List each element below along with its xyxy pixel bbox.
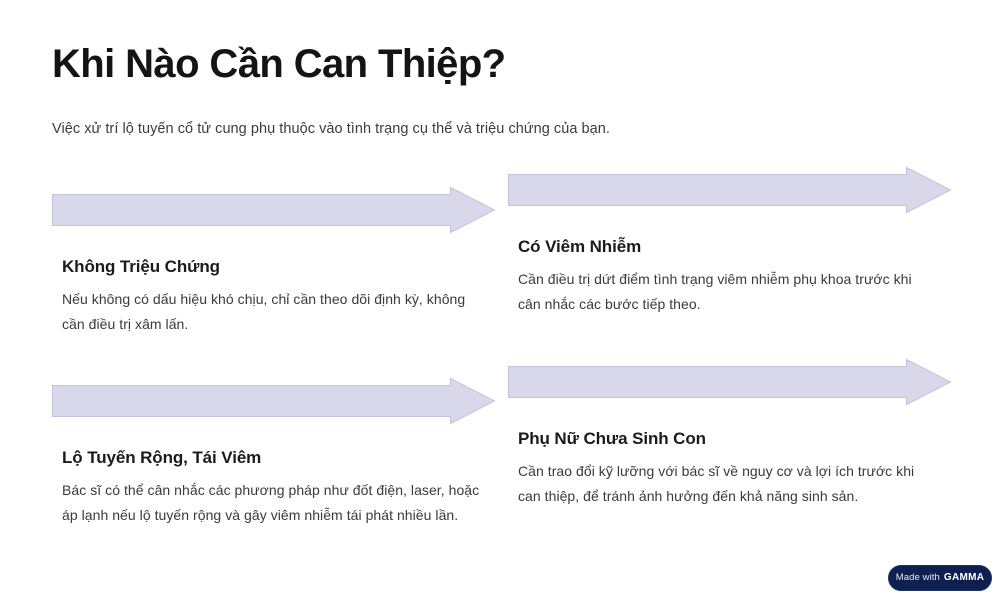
card-grid: Không Triệu Chứng Nếu không có dấu hiệu … bbox=[0, 0, 1000, 595]
card-lo-tuyen-rong-tai-viem: Lộ Tuyến Rộng, Tái Viêm Bác sĩ có thể câ… bbox=[52, 378, 497, 528]
card-body: Không Triệu Chứng Nếu không có dấu hiệu … bbox=[52, 255, 497, 337]
slide: Khi Nào Cần Can Thiệp? Việc xử trí lộ tu… bbox=[0, 0, 1000, 595]
badge-made-with-label: Made with bbox=[896, 573, 940, 583]
badge-brand-label: GAMMA bbox=[944, 573, 984, 583]
card-heading: Có Viêm Nhiễm bbox=[518, 235, 953, 259]
made-with-gamma-badge[interactable]: Made with GAMMA bbox=[888, 565, 992, 591]
right-arrow-icon bbox=[52, 378, 495, 424]
card-body: Có Viêm Nhiễm Cần điều trị dứt điểm tình… bbox=[508, 235, 953, 317]
card-text: Nếu không có dấu hiệu khó chịu, chỉ cần … bbox=[62, 287, 480, 337]
card-co-viem-nhiem: Có Viêm Nhiễm Cần điều trị dứt điểm tình… bbox=[508, 167, 953, 317]
card-body: Phụ Nữ Chưa Sinh Con Cần trao đổi kỹ lưỡ… bbox=[508, 427, 953, 509]
card-phu-nu-chua-sinh-con: Phụ Nữ Chưa Sinh Con Cần trao đổi kỹ lưỡ… bbox=[508, 359, 953, 509]
right-arrow-icon bbox=[52, 187, 495, 233]
card-heading: Không Triệu Chứng bbox=[62, 255, 497, 279]
card-heading: Phụ Nữ Chưa Sinh Con bbox=[518, 427, 953, 451]
right-arrow-icon bbox=[508, 167, 951, 213]
right-arrow-icon bbox=[508, 359, 951, 405]
card-text: Cần trao đổi kỹ lưỡng với bác sĩ về nguy… bbox=[518, 459, 936, 509]
card-text: Cần điều trị dứt điểm tình trạng viêm nh… bbox=[518, 267, 936, 317]
card-heading: Lộ Tuyến Rộng, Tái Viêm bbox=[62, 446, 497, 470]
card-text: Bác sĩ có thể cân nhắc các phương pháp n… bbox=[62, 478, 480, 528]
card-khong-trieu-chung: Không Triệu Chứng Nếu không có dấu hiệu … bbox=[52, 187, 497, 337]
card-body: Lộ Tuyến Rộng, Tái Viêm Bác sĩ có thể câ… bbox=[52, 446, 497, 528]
